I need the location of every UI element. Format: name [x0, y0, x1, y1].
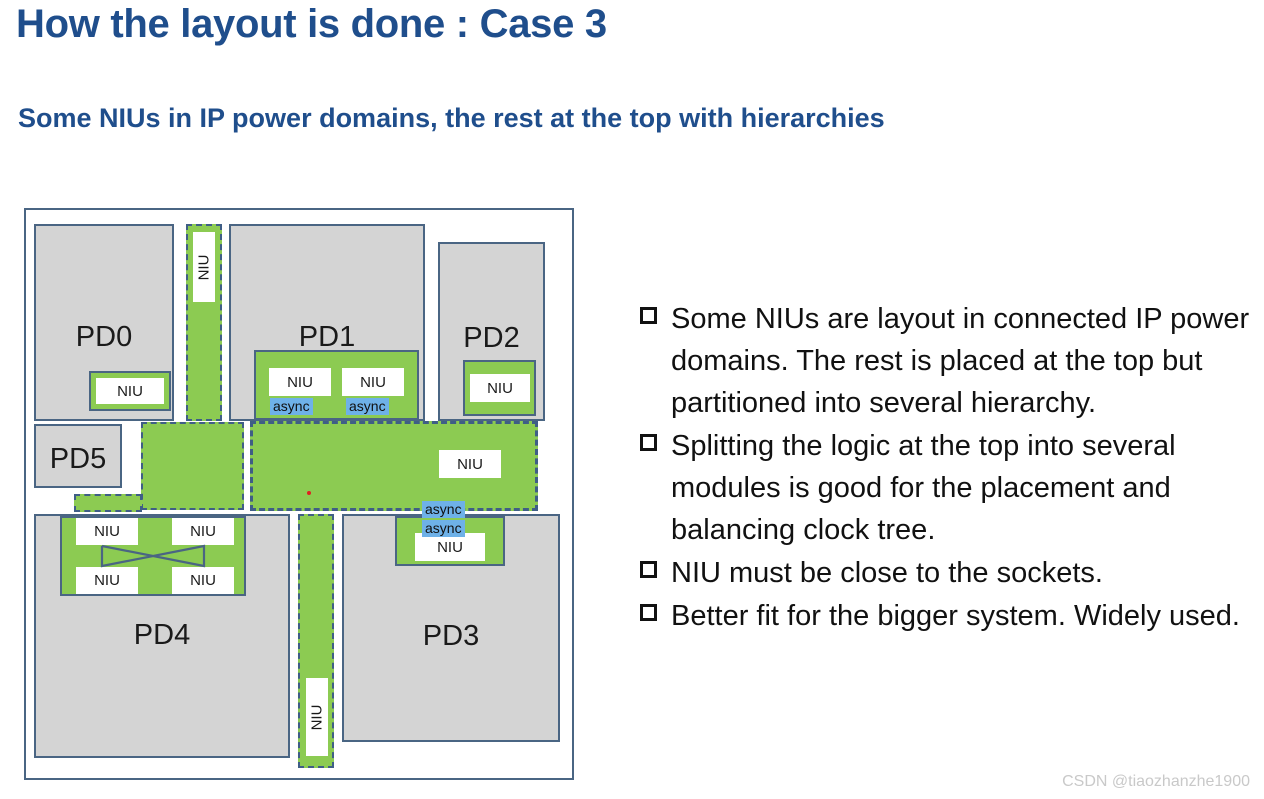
pd0-niu-chip-label: NIU — [117, 383, 143, 400]
list-item: Better fit for the bigger system. Widely… — [640, 595, 1260, 637]
pd2-niu-chip: NIU — [470, 374, 530, 402]
layout-diagram: PD0 NIU NIU PD1 NIU NIU async async asyn… — [24, 208, 574, 780]
power-domain-pd0-label: PD0 — [36, 321, 172, 354]
page-title: How the layout is done : Case 3 — [16, 2, 607, 47]
pd3-async-badge-outer: async — [422, 501, 465, 518]
power-domain-pd5-label: PD5 — [36, 443, 120, 476]
pd1-niu-chip-right-label: NIU — [360, 374, 386, 391]
bottom-vertical-niu-chip: NIU — [306, 678, 328, 756]
pd5-green-stub — [74, 494, 142, 512]
square-bullet-icon — [640, 561, 657, 578]
pd4-niu-chip-top-left-label: NIU — [94, 523, 120, 540]
pd4-niu-chip-top-right-label: NIU — [190, 523, 216, 540]
pd4-niu-chip-bottom-right-label: NIU — [190, 572, 216, 589]
pd1-niu-chip-right: NIU — [342, 368, 404, 396]
pd1-niu-chip-left: NIU — [269, 368, 331, 396]
top-vertical-niu-chip-label: NIU — [196, 254, 213, 280]
top-region-niu-chip: NIU — [439, 450, 501, 478]
bullet-text: Some NIUs are layout in connected IP pow… — [671, 298, 1260, 424]
page-subtitle: Some NIUs in IP power domains, the rest … — [18, 100, 1058, 137]
pd1-async-badge-right-inner: async — [346, 398, 389, 415]
pd1-async-badge-left-inner: async — [270, 398, 313, 415]
pd0-niu-chip: NIU — [96, 378, 164, 404]
square-bullet-icon — [640, 604, 657, 621]
mid-left-green-region — [141, 422, 244, 510]
list-item: Splitting the logic at the top into seve… — [640, 425, 1260, 551]
pd1-niu-chip-left-label: NIU — [287, 374, 313, 391]
bullet-text: NIU must be close to the sockets. — [671, 552, 1260, 594]
pd3-niu-chip: NIU — [415, 533, 485, 561]
pd3-niu-chip-label: NIU — [437, 539, 463, 556]
power-domain-pd3-label: PD3 — [344, 620, 558, 653]
square-bullet-icon — [640, 434, 657, 451]
pd4-niu-chip-bottom-right: NIU — [172, 567, 234, 594]
red-marker-dot — [307, 491, 311, 495]
pd4-niu-chip-bottom-left: NIU — [76, 567, 138, 594]
power-domain-pd4-label: PD4 — [36, 619, 288, 652]
top-vertical-niu-chip: NIU — [193, 232, 215, 302]
pd4-niu-chip-top-left: NIU — [76, 518, 138, 545]
pd3-async-badge-inner: async — [422, 520, 465, 537]
power-domain-pd2-label: PD2 — [440, 322, 543, 355]
pd4-niu-chip-bottom-left-label: NIU — [94, 572, 120, 589]
list-item: Some NIUs are layout in connected IP pow… — [640, 298, 1260, 424]
power-domain-pd5: PD5 — [34, 424, 122, 488]
pd4-niu-chip-top-right: NIU — [172, 518, 234, 545]
bullet-list: Some NIUs are layout in connected IP pow… — [640, 298, 1260, 638]
bullet-text: Better fit for the bigger system. Widely… — [671, 595, 1260, 637]
bottom-vertical-niu-chip-label: NIU — [309, 704, 326, 730]
pd2-niu-chip-label: NIU — [487, 380, 513, 397]
top-region-niu-chip-label: NIU — [457, 456, 483, 473]
list-item: NIU must be close to the sockets. — [640, 552, 1260, 594]
square-bullet-icon — [640, 307, 657, 324]
watermark: CSDN @tiaozhanzhe1900 — [1062, 773, 1250, 791]
bullet-text: Splitting the logic at the top into seve… — [671, 425, 1260, 551]
